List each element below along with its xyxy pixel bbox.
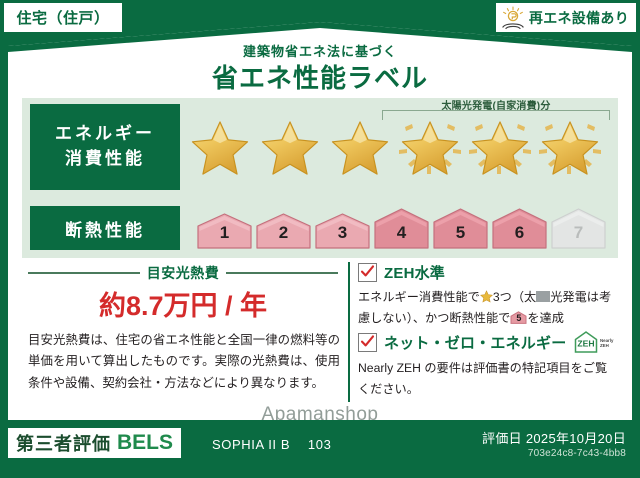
insulation-level-6: 6 — [491, 206, 548, 250]
energy-star-4 — [396, 106, 464, 188]
zeh-standard-text-3: を達成 — [527, 311, 564, 325]
check-icon — [360, 334, 375, 349]
evaluation-id: 703e24c8-7c43-4bb8 — [528, 448, 626, 459]
divider-right — [226, 272, 338, 274]
insulation-level-5: 5 — [432, 206, 489, 250]
label-title: 省エネ性能ラベル — [0, 58, 640, 95]
energy-label-line1: エネルギー — [55, 122, 155, 147]
insulation-badge-value: 5 — [510, 311, 527, 324]
building-type-badge: 住宅（住戸） — [4, 3, 122, 32]
star-icon — [191, 120, 249, 176]
insulation-level-4: 4 — [373, 206, 430, 250]
insulation-level-number: 6 — [515, 223, 524, 250]
energy-star-6 — [536, 106, 604, 188]
utility-cost-heading: 目安光熱費 — [28, 264, 338, 282]
utility-cost-label: 目安光熱費 — [147, 263, 220, 283]
zeh-standard-checkbox — [358, 263, 377, 282]
insulation-level-3: 3 — [314, 206, 371, 250]
zeh-logo-icon: ZEH Nearly ZEH — [573, 330, 615, 354]
insulation-level-2: 2 — [255, 206, 312, 250]
unit-name: SOPHIA II B 103 — [212, 434, 331, 453]
divider-left — [28, 272, 140, 274]
sun-solar-icon — [500, 6, 526, 30]
redaction-block — [536, 291, 550, 302]
zeh-standard-body: エネルギー消費性能で3つ（太光発電は考慮しない）、かつ断熱性能で5を達成 — [358, 287, 616, 328]
zeh-standard-heading: ZEH水準 — [358, 262, 616, 283]
svg-text:ZEH: ZEH — [578, 338, 595, 348]
net-zero-title: ネット・ゼロ・エネルギー — [384, 332, 566, 353]
energy-performance-label: エネルギー 消費性能 — [30, 104, 180, 190]
net-zero-checkbox — [358, 333, 377, 352]
utility-cost-amount: 約8.7万円 / 年 — [28, 284, 338, 323]
insulation-level-7: 7 — [550, 206, 607, 250]
star-icon — [541, 120, 599, 176]
bels-logo: 第三者評価 BELS — [8, 428, 181, 458]
zeh-standard-text-star: 3つ（太 — [493, 290, 536, 304]
bels-en-label: BELS — [117, 431, 173, 455]
net-zero-body: Nearly ZEH の要件は評価書の特記項目をご覧ください。 — [358, 358, 616, 399]
building-type-label: 住宅（住戸） — [16, 7, 109, 28]
net-zero-energy-block: ネット・ゼロ・エネルギー ZEH Nearly ZEH Nearly ZEH の… — [358, 330, 616, 399]
zeh-standard-text-1: エネルギー消費性能で — [358, 290, 480, 304]
insulation-level-number: 5 — [456, 223, 465, 250]
insulation-badge-inline: 5 — [510, 311, 527, 324]
energy-star-1 — [186, 106, 254, 188]
footer-bar: 第三者評価 BELS SOPHIA II B 103 評価日 2025年10月2… — [0, 420, 640, 478]
renewable-equipment-badge: 再エネ設備あり — [496, 3, 636, 32]
energy-label-card: 住宅（住戸） 再エネ設備あり 建築物省エネ法に基づく 省エネ性能ラベル — [0, 0, 640, 478]
energy-star-rating — [186, 106, 610, 188]
insulation-level-number: 2 — [279, 223, 288, 250]
energy-star-3 — [326, 106, 394, 188]
star-icon — [261, 120, 319, 176]
zeh-standard-block: ZEH水準 エネルギー消費性能で3つ（太光発電は考慮しない）、かつ断熱性能で5を… — [358, 262, 616, 328]
bels-jp-label: 第三者評価 — [16, 430, 111, 456]
zeh-standard-title: ZEH水準 — [384, 262, 445, 283]
net-zero-heading: ネット・ゼロ・エネルギー ZEH Nearly ZEH — [358, 330, 616, 354]
insulation-level-number: 7 — [574, 223, 583, 250]
utility-cost-note: 目安光熱費は、住宅の省エネ性能と全国一律の燃料等の単価を用いて算出したものです。… — [28, 330, 340, 394]
renewable-equipment-label: 再エネ設備あり — [529, 8, 629, 28]
insulation-level-number: 1 — [220, 223, 229, 250]
energy-star-2 — [256, 106, 324, 188]
insulation-performance-label: 断熱性能 — [30, 206, 180, 250]
insulation-level-1: 1 — [196, 206, 253, 250]
svg-text:ZEH: ZEH — [600, 343, 609, 348]
insulation-label-text: 断熱性能 — [65, 216, 145, 241]
insulation-level-number: 4 — [397, 223, 406, 250]
star-icon — [331, 120, 389, 176]
star-icon — [471, 120, 529, 176]
insulation-level-scale: 1234567 — [196, 206, 608, 252]
vertical-divider — [348, 262, 350, 402]
evaluation-date: 評価日 2025年10月20日 — [482, 428, 626, 447]
energy-star-5 — [466, 106, 534, 188]
star-icon — [401, 120, 459, 176]
check-icon — [360, 264, 375, 279]
star-icon-inline — [480, 290, 493, 303]
energy-label-line2: 消費性能 — [65, 147, 145, 172]
insulation-level-number: 3 — [338, 223, 347, 250]
